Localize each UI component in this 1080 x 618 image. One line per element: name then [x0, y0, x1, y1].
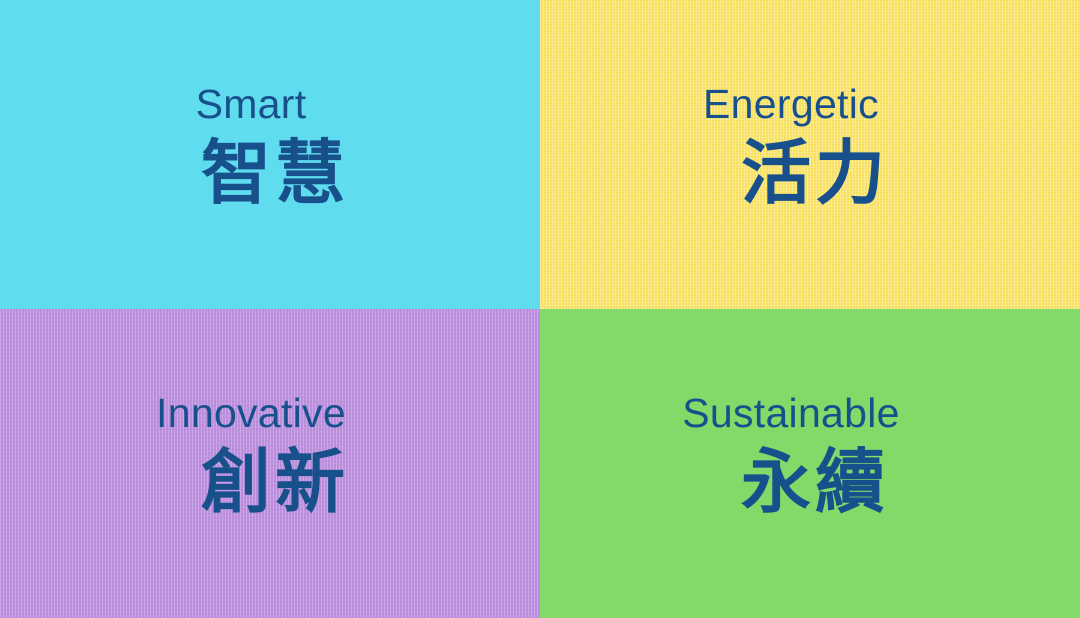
label-zh-smart: 智慧 [6, 134, 540, 212]
quadrant-energetic: Energetic 活力 [540, 0, 1080, 309]
text-block-sustainable: Sustainable 永續 [540, 393, 1080, 521]
label-zh-sustainable: 永續 [546, 443, 1080, 521]
label-en-smart: Smart [0, 84, 540, 125]
label-zh-innovative: 創新 [6, 443, 540, 521]
label-en-sustainable: Sustainable [540, 393, 1080, 434]
quadrant-sustainable: Sustainable 永續 [540, 309, 1080, 618]
text-block-energetic: Energetic 活力 [540, 84, 1080, 212]
label-zh-energetic: 活力 [546, 134, 1080, 212]
label-en-innovative: Innovative [0, 393, 540, 434]
quadrant-smart: Smart 智慧 [0, 0, 540, 309]
quadrant-innovative: Innovative 創新 [0, 309, 540, 618]
label-en-energetic: Energetic [540, 84, 1080, 125]
brand-values-grid: Smart 智慧 Energetic 活力 Innovative 創新 Sust… [0, 0, 1080, 618]
text-block-innovative: Innovative 創新 [0, 393, 540, 521]
text-block-smart: Smart 智慧 [0, 84, 540, 212]
